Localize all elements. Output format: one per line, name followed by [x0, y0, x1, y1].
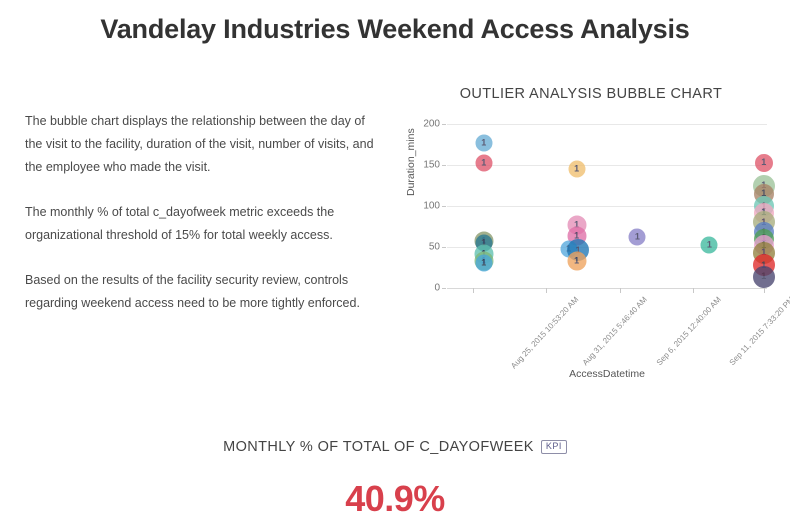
- plot-area: 050100150200Aug 25, 2015 10:53:20 AMAug …: [447, 124, 767, 288]
- x-tick-mark: [546, 288, 547, 293]
- x-tick-label: Sep 11, 2015 7:33:20 PM: [728, 295, 790, 367]
- gridline: [447, 247, 767, 248]
- x-tick-mark: [693, 288, 694, 293]
- bubble-value-label: 1: [574, 256, 579, 265]
- x-tick-mark: [764, 288, 765, 293]
- chart-bubble[interactable]: 1: [629, 229, 646, 246]
- narrative-paragraph: The bubble chart displays the relationsh…: [25, 110, 380, 179]
- chart-bubble[interactable]: 1: [755, 154, 773, 172]
- x-axis-title: AccessDatetime: [447, 368, 767, 380]
- y-tick-label: 0: [434, 283, 440, 294]
- page-title: Vandelay Industries Weekend Access Analy…: [0, 14, 790, 45]
- y-axis-title: Duration_mins: [405, 128, 417, 196]
- y-tick-mark: [442, 247, 446, 248]
- bubble-value-label: 1: [481, 138, 486, 147]
- chart-bubble[interactable]: 1: [568, 161, 585, 178]
- kpi-label: MONTHLY % OF TOTAL OF C_DAYOFWEEK: [223, 439, 534, 455]
- y-tick-label: 200: [423, 119, 440, 130]
- kpi-block: MONTHLY % OF TOTAL OF C_DAYOFWEEK KPI 40…: [0, 438, 790, 520]
- y-tick-mark: [442, 288, 446, 289]
- bubble-value-label: 1: [574, 165, 579, 174]
- bubble-value-label: 1: [761, 272, 766, 281]
- x-tick-label: Aug 31, 2015 5:46:40 AM: [581, 295, 649, 367]
- chart-bubble[interactable]: 1: [475, 134, 492, 151]
- chart-bubble[interactable]: 1: [567, 251, 586, 270]
- gridline: [447, 165, 767, 166]
- x-tick-mark: [620, 288, 621, 293]
- y-tick-label: 50: [429, 242, 440, 253]
- bubble-value-label: 1: [481, 159, 486, 168]
- x-tick-label: Sep 6, 2015 12:40:00 AM: [655, 295, 723, 367]
- bubble-chart-panel: OUTLIER ANALYSIS BUBBLE CHART Duration_m…: [396, 78, 786, 388]
- bubble-value-label: 1: [481, 258, 486, 267]
- kpi-label-row: MONTHLY % OF TOTAL OF C_DAYOFWEEK KPI: [223, 439, 567, 455]
- y-tick-label: 100: [423, 201, 440, 212]
- bubble-value-label: 1: [635, 233, 640, 242]
- chart-bubble[interactable]: 1: [753, 266, 775, 288]
- chart-bubble[interactable]: 1: [701, 236, 718, 253]
- y-tick-mark: [442, 206, 446, 207]
- y-tick-mark: [442, 124, 446, 125]
- x-tick-mark: [473, 288, 474, 293]
- narrative-text-panel: The bubble chart displays the relationsh…: [25, 110, 380, 315]
- chart-bubble[interactable]: 1: [475, 155, 492, 172]
- bubble-value-label: 1: [761, 158, 766, 167]
- gridline: [447, 124, 767, 125]
- x-tick-label: Aug 25, 2015 10:53:20 AM: [509, 295, 580, 370]
- gridline: [447, 206, 767, 207]
- y-tick-label: 150: [423, 160, 440, 171]
- narrative-paragraph: Based on the results of the facility sec…: [25, 269, 380, 315]
- x-axis-line: [447, 288, 767, 289]
- kpi-badge: KPI: [541, 440, 567, 454]
- kpi-value: 40.9%: [0, 478, 790, 520]
- chart-title: OUTLIER ANALYSIS BUBBLE CHART: [396, 86, 786, 102]
- chart-bubble[interactable]: 1: [475, 254, 492, 271]
- y-tick-mark: [442, 165, 446, 166]
- bubble-value-label: 1: [707, 240, 712, 249]
- narrative-paragraph: The monthly % of total c_dayofweek metri…: [25, 201, 380, 247]
